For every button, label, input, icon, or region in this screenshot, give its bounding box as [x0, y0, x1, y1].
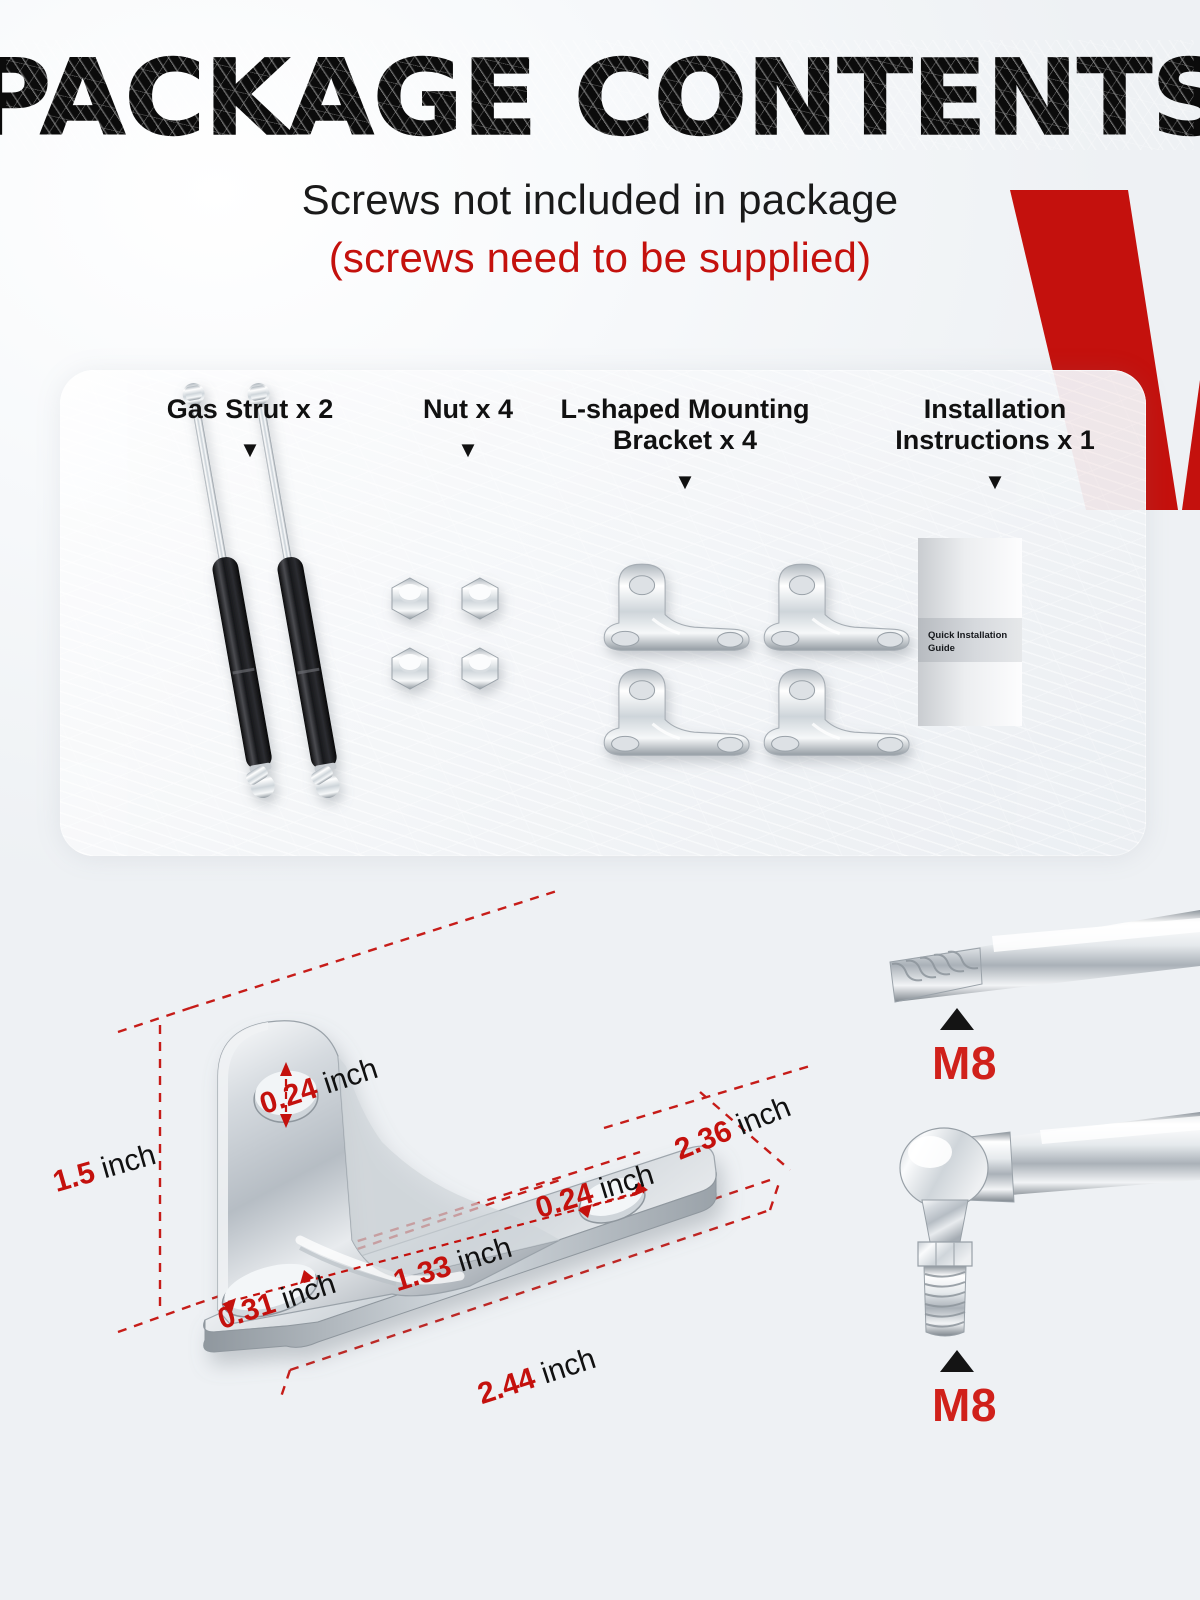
m8-label-ball-stud: M8 [932, 1378, 997, 1432]
subtitle-primary: Screws not included in package [0, 176, 1200, 224]
package-item-instructions-label-line1: Installation [850, 394, 1140, 425]
caret-down-icon: ▼ [520, 471, 850, 493]
package-item-instructions-label-line2: Instructions x 1 [850, 425, 1140, 456]
header: PACKAGE CONTENTS Screws not included in … [0, 0, 1200, 282]
subtitle-secondary: (screws need to be supplied) [0, 234, 1200, 282]
package-item-bracket-label-line2: Bracket x 4 [520, 425, 850, 456]
package-item-labels: Gas Strut x 2 ▼ Nut x 4 ▼ L-shaped Mount… [60, 370, 1146, 856]
bracket-dimension-diagram [0, 880, 1200, 1600]
infographic-page: PACKAGE CONTENTS Screws not included in … [0, 0, 1200, 1600]
package-item-gas-strut: Gas Strut x 2 ▼ [120, 394, 380, 461]
caret-up-icon-ball-stud [940, 1350, 974, 1372]
package-item-bracket-label-line1: L-shaped Mounting [520, 394, 850, 425]
page-title: PACKAGE CONTENTS [0, 0, 1200, 150]
strut-ball-stud-model [900, 1112, 1200, 1336]
caret-up-icon-rod-end [940, 1008, 974, 1030]
caret-down-icon: ▼ [120, 439, 380, 461]
package-contents-panel: Quick Installation Guide Gas Strut x 2 ▼… [60, 370, 1146, 856]
dimension-detail-section: 1.5 inch 0.24 inch 0.31 inch 1.33 inch 0… [0, 880, 1200, 1600]
caret-down-icon: ▼ [850, 471, 1140, 493]
strut-rod-end-model [890, 910, 1200, 1002]
package-item-instructions: Installation Instructions x 1 ▼ [850, 394, 1140, 493]
m8-label-rod-end: M8 [932, 1036, 997, 1090]
package-item-bracket: L-shaped Mounting Bracket x 4 ▼ [520, 394, 850, 493]
package-item-gas-strut-label: Gas Strut x 2 [120, 394, 380, 425]
page-title-text: PACKAGE CONTENTS [0, 37, 1200, 159]
